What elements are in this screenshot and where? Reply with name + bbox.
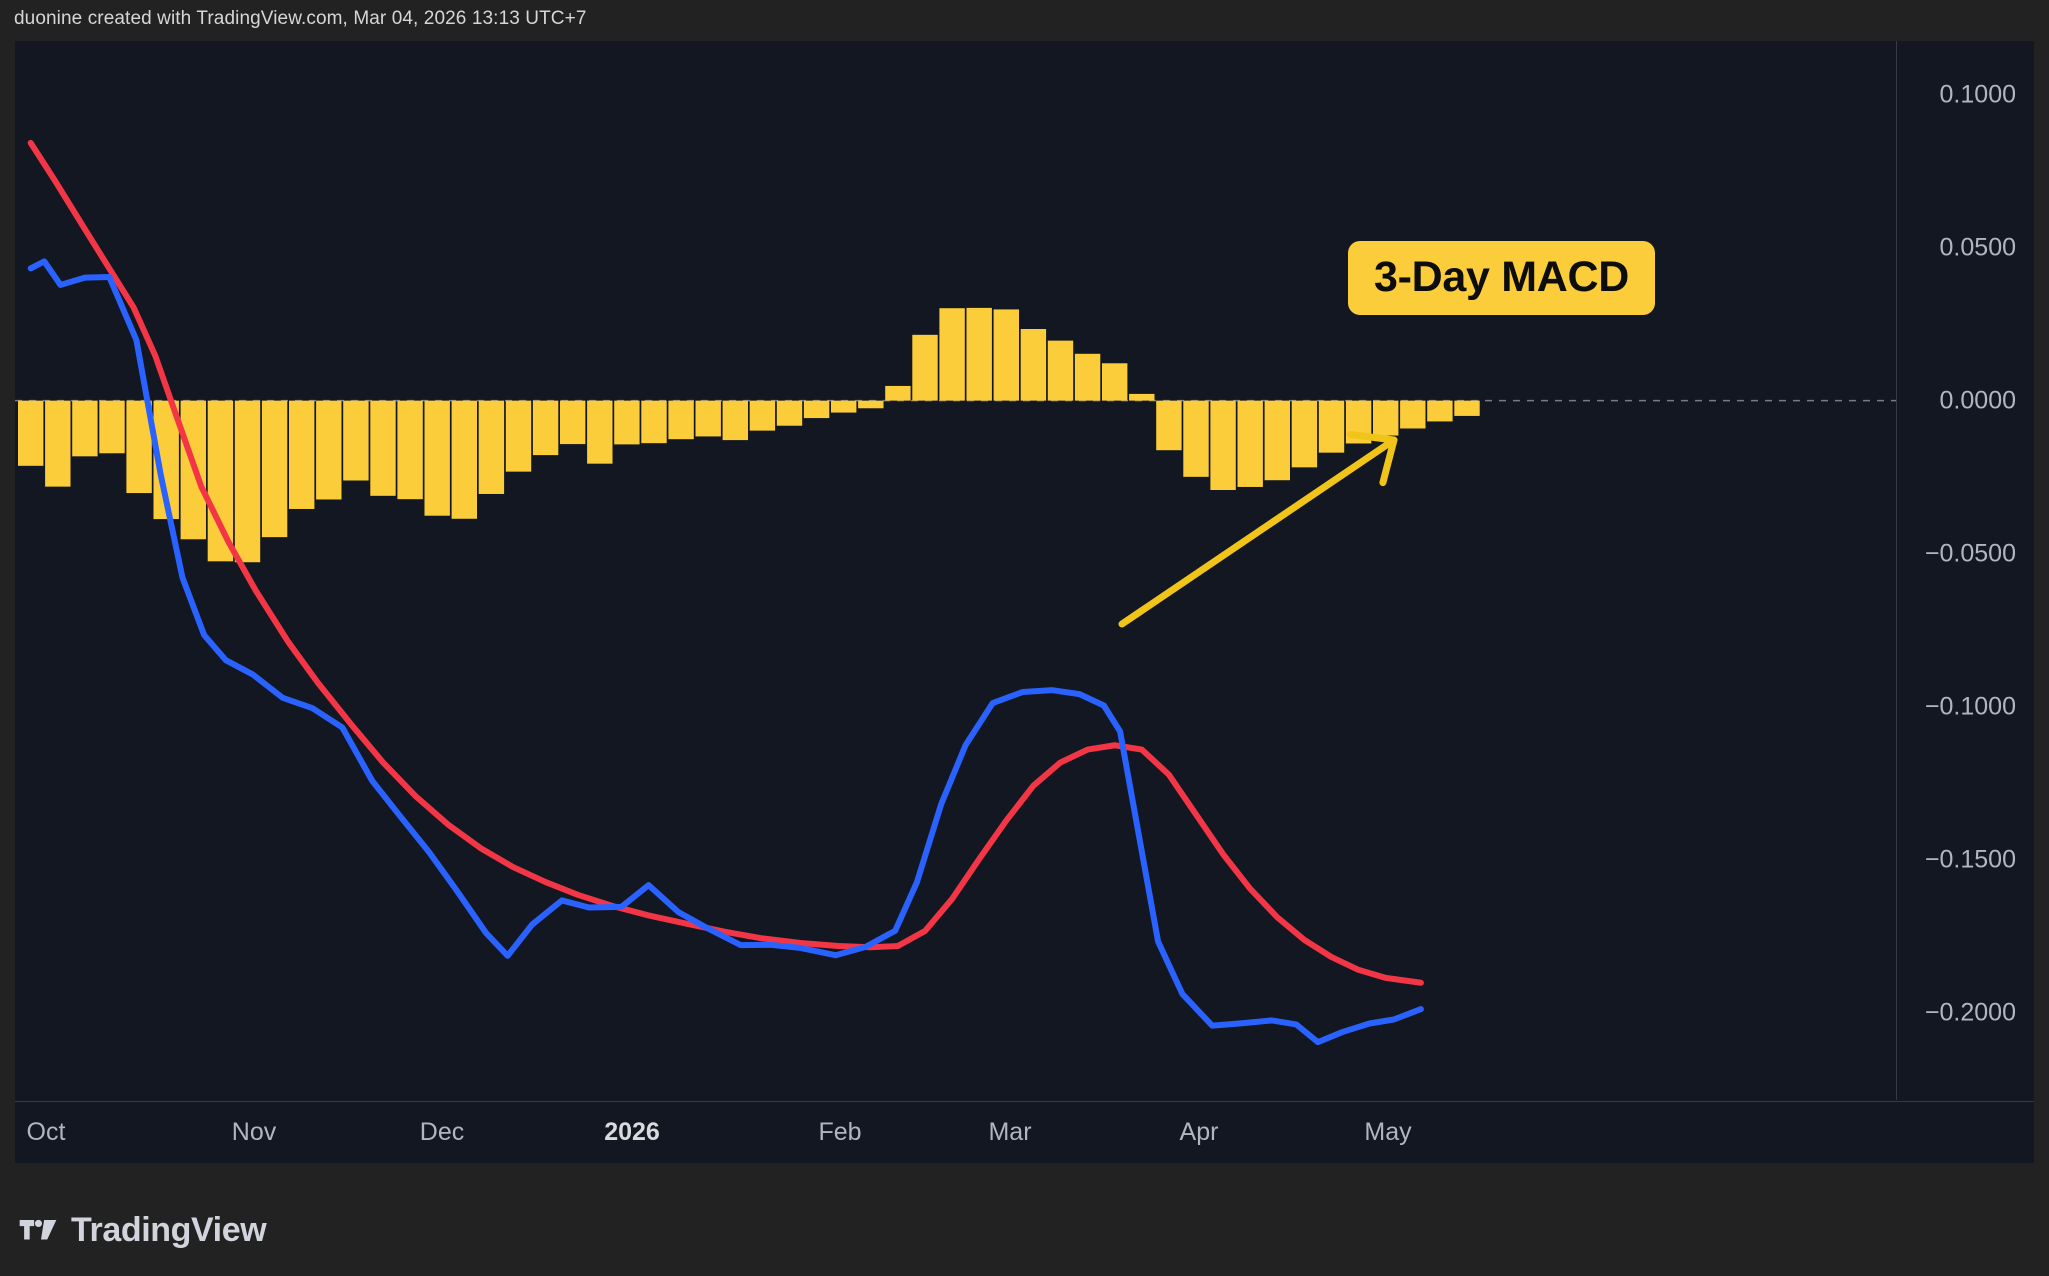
macd-plot-area[interactable]: 3-Day MACD — [15, 41, 1897, 1100]
histogram-bar — [668, 401, 693, 440]
histogram-bar — [235, 401, 260, 563]
price-axis-label: 0.1000 — [1940, 82, 2016, 107]
histogram-bar — [316, 401, 341, 500]
time-axis-label: Oct — [27, 1118, 66, 1146]
macd-histogram — [18, 308, 1480, 562]
chart-panel: 3-Day MACD 0.10000.05000.0000−0.0500−0.1… — [15, 41, 2034, 1102]
time-axis[interactable]: OctNovDec2026FebMarAprMay — [15, 1101, 2034, 1163]
histogram-bar — [397, 401, 422, 500]
histogram-bar — [1400, 401, 1425, 429]
price-axis-label: −0.1000 — [1925, 694, 2016, 719]
tradingview-logo-icon — [18, 1210, 58, 1250]
histogram-bar — [1156, 401, 1181, 451]
histogram-bar — [1021, 329, 1046, 401]
tradingview-logo-text: TradingView — [71, 1212, 266, 1248]
price-axis-label: 0.0500 — [1940, 235, 2016, 260]
time-axis-label: Dec — [420, 1118, 464, 1146]
histogram-bar — [370, 401, 395, 496]
histogram-bar — [777, 401, 802, 426]
time-axis-label: Nov — [232, 1118, 276, 1146]
histogram-bar — [1102, 363, 1127, 400]
tradingview-logo: TradingView — [18, 1210, 266, 1250]
histogram-bar — [831, 401, 856, 413]
time-axis-label: Mar — [988, 1118, 1031, 1146]
histogram-bar — [804, 401, 829, 418]
price-axis-label: −0.0500 — [1925, 541, 2016, 566]
histogram-bar — [939, 308, 964, 400]
histogram-bar — [1238, 401, 1263, 487]
attribution-text: duonine created with TradingView.com, Ma… — [14, 8, 587, 30]
macd-chart-svg — [15, 41, 1897, 1100]
histogram-bar — [533, 401, 558, 455]
histogram-bar — [587, 401, 612, 464]
histogram-bar — [1075, 354, 1100, 401]
histogram-bar — [885, 386, 910, 401]
histogram-bar — [289, 401, 314, 509]
price-axis-label: −0.1500 — [1925, 847, 2016, 872]
histogram-bar — [1373, 401, 1398, 436]
histogram-bar — [262, 401, 287, 538]
histogram-bar — [858, 401, 883, 409]
price-axis[interactable]: 0.10000.05000.0000−0.0500−0.1000−0.1500−… — [1898, 41, 2034, 1100]
histogram-bar — [72, 401, 97, 457]
histogram-bar — [1454, 401, 1479, 416]
histogram-bar — [1183, 401, 1208, 477]
histogram-bar — [641, 401, 666, 444]
histogram-bar — [452, 401, 477, 519]
price-axis-label: −0.2000 — [1925, 1000, 2016, 1025]
macd-callout-badge: 3-Day MACD — [1348, 241, 1655, 315]
histogram-bar — [723, 401, 748, 440]
macd-line — [31, 261, 1421, 1042]
histogram-bar — [1265, 401, 1290, 481]
time-axis-label: 2026 — [604, 1118, 660, 1146]
histogram-bar — [750, 401, 775, 431]
histogram-bar — [18, 401, 43, 466]
histogram-bar — [912, 335, 937, 401]
histogram-bar — [1129, 394, 1154, 401]
histogram-bar — [1292, 401, 1317, 468]
histogram-bar — [479, 401, 504, 494]
time-axis-label: Apr — [1180, 1118, 1219, 1146]
time-axis-label: May — [1364, 1118, 1411, 1146]
histogram-bar — [1210, 401, 1235, 490]
histogram-bar — [1427, 401, 1452, 422]
histogram-bar — [967, 308, 992, 401]
time-axis-label: Feb — [818, 1118, 861, 1146]
histogram-bar — [1048, 341, 1073, 401]
histogram-bar — [1319, 401, 1344, 453]
histogram-bar — [560, 401, 585, 444]
histogram-bar — [425, 401, 450, 516]
histogram-bar — [994, 309, 1019, 400]
histogram-bar — [45, 401, 70, 487]
histogram-bar — [506, 401, 531, 472]
screenshot-root: duonine created with TradingView.com, Ma… — [0, 0, 2049, 1276]
histogram-bar — [99, 401, 124, 454]
price-axis-label: 0.0000 — [1940, 388, 2016, 413]
histogram-bar — [343, 401, 368, 481]
histogram-bar — [696, 401, 721, 437]
histogram-bar — [614, 401, 639, 445]
